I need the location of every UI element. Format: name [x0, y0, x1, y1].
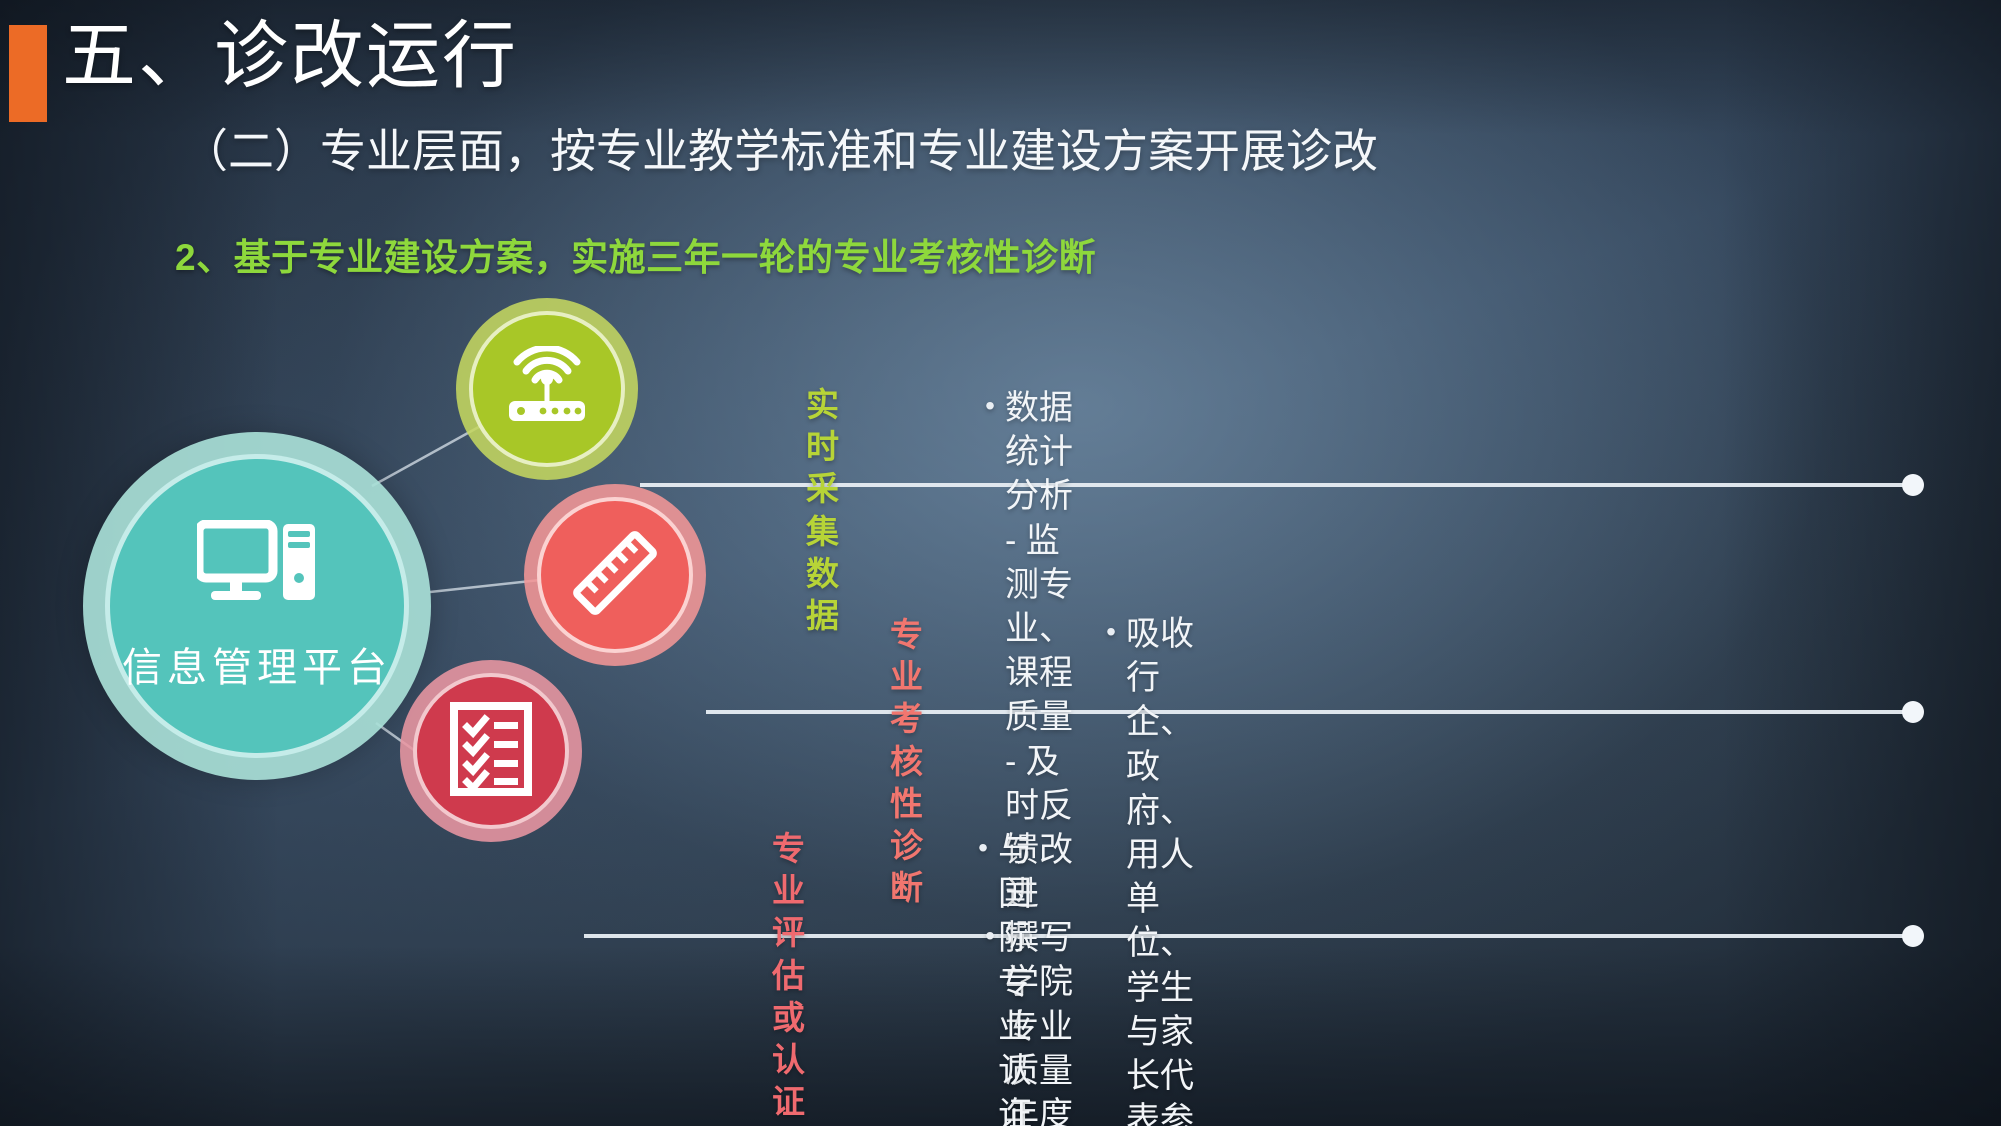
bullet-dot-icon: •: [975, 386, 1005, 427]
subtitle-section: （二）专业层面，按专业教学标准和专业建设方案开展诊改: [182, 126, 1378, 178]
hub-label: 信息管理平台: [122, 635, 392, 693]
bullet-list-major-assessment: • 吸收行企、政府、用人单位、学生与家 长代表参与: [1096, 612, 1194, 1126]
ruler-icon: [569, 527, 661, 624]
checklist-icon: [449, 701, 533, 802]
node-major-evaluation[interactable]: [400, 660, 582, 842]
node-major-assessment[interactable]: [524, 484, 706, 666]
title-accent-bar: [9, 25, 47, 122]
bullet-dot-icon: •: [968, 828, 998, 869]
row-heading-realtime-data: 实时采 集数据: [806, 384, 839, 637]
node-realtime-data[interactable]: [456, 298, 638, 480]
bullet-dot-icon: •: [1096, 612, 1126, 653]
hub-node-information-platform[interactable]: 信息管理平台: [83, 432, 431, 780]
list-item: • 与国际专业认证机构认证指标进行比较性诊改: [968, 828, 1032, 1126]
bullet-text: 吸收行企、政府、用人单位、学生与家 长代表参与: [1126, 612, 1194, 1126]
row-heading-major-evaluation: 专业评估 或认证: [772, 828, 805, 1124]
bullet-list-major-evaluation: • 与国际专业认证机构认证指标进行比较性诊改 • 参与国内专业认证机构评估或认证: [968, 828, 1032, 1126]
list-item: • 吸收行企、政府、用人单位、学生与家 长代表参与: [1096, 612, 1194, 1126]
desktop-computer-icon: [197, 520, 317, 617]
wifi-router-icon: [501, 346, 593, 433]
page-title: 五、诊改运行: [62, 16, 518, 96]
row-heading-major-assessment: 专业考核 性诊断: [890, 614, 923, 910]
presentation-slide: 五、诊改运行 （二）专业层面，按专业教学标准和专业建设方案开展诊改 2、基于专业…: [0, 0, 2001, 1126]
bullet-text: 与国际专业认证机构认证指标进行比较性诊改: [998, 828, 1032, 1126]
subtitle-item: 2、基于专业建设方案，实施三年一轮的专业考核性诊断: [175, 238, 1096, 279]
